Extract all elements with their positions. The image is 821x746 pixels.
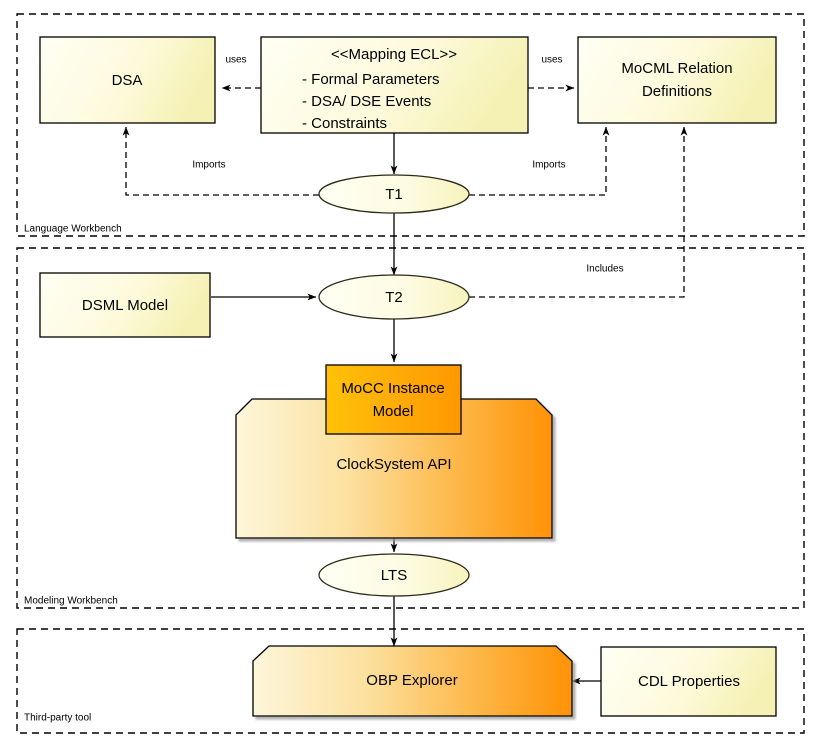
node-mapping-ecl[interactable]: <<Mapping ECL>> - Formal Parameters - DS… — [261, 37, 528, 133]
group-label-language-workbench: Language Workbench — [24, 224, 122, 235]
node-label-mapping-ecl-line2: - Formal Parameters — [302, 71, 440, 88]
node-cdl-properties[interactable]: CDL Properties — [601, 647, 776, 716]
node-dsml-model[interactable]: DSML Model — [40, 273, 210, 337]
edge-t1-imports-mocml: Imports — [469, 127, 606, 195]
node-label-obp-explorer: OBP Explorer — [366, 672, 457, 689]
node-t2[interactable]: T2 — [319, 275, 469, 319]
node-t1[interactable]: T1 — [319, 175, 469, 213]
node-shape-mocc-instance-model[interactable] — [326, 365, 461, 434]
edge-t1-imports-dsa: Imports — [126, 127, 319, 195]
node-label-mocc-line1: MoCC Instance — [341, 380, 444, 397]
node-dsa[interactable]: DSA — [40, 37, 215, 123]
node-mocml-relation-definitions[interactable]: MoCML Relation Definitions — [578, 37, 776, 123]
node-label-mocc-line2: Model — [373, 403, 414, 420]
edge-label-ecl-uses-dsa: uses — [225, 55, 246, 66]
node-lts[interactable]: LTS — [319, 554, 469, 596]
architecture-diagram: Language Workbench Modeling Workbench Th… — [0, 0, 821, 746]
node-label-t1: T1 — [385, 186, 403, 203]
edge-label-t2-includes-mocml: Includes — [586, 264, 623, 275]
node-label-mocml-line1: MoCML Relation — [621, 60, 732, 77]
node-obp-explorer[interactable]: OBP Explorer — [253, 646, 572, 716]
edge-ecl-uses-dsa: uses — [222, 55, 261, 88]
node-label-dsml-model: DSML Model — [82, 297, 168, 314]
edge-label-ecl-uses-mocml: uses — [541, 55, 562, 66]
node-label-mapping-ecl-line1: <<Mapping ECL>> — [331, 46, 457, 63]
node-label-cdl-properties: CDL Properties — [638, 673, 740, 690]
diagram-canvas: Language Workbench Modeling Workbench Th… — [0, 0, 821, 746]
group-label-third-party-tool: Third-party tool — [24, 713, 91, 724]
node-label-mapping-ecl-line4: - Constraints — [302, 115, 387, 132]
edge-t2-includes-mocml: Includes — [469, 127, 684, 297]
node-label-dsa: DSA — [112, 72, 143, 89]
edge-ecl-uses-mocml: uses — [528, 55, 574, 88]
edge-label-t1-imports-dsa: Imports — [192, 160, 225, 171]
edge-label-t1-imports-mocml: Imports — [532, 160, 565, 171]
node-label-t2: T2 — [385, 289, 403, 306]
node-label-mocml-line2: Definitions — [642, 83, 712, 100]
node-label-lts: LTS — [381, 567, 407, 584]
node-shape-mocml[interactable] — [578, 37, 776, 123]
node-mocc-instance-model[interactable]: MoCC Instance Model — [326, 365, 461, 434]
group-label-modeling-workbench: Modeling Workbench — [24, 596, 118, 607]
edge-line-t2-includes-mocml — [469, 127, 684, 297]
node-label-mapping-ecl-line3: - DSA/ DSE Events — [302, 93, 431, 110]
node-label-clocksystem-api: ClockSystem API — [336, 456, 451, 473]
